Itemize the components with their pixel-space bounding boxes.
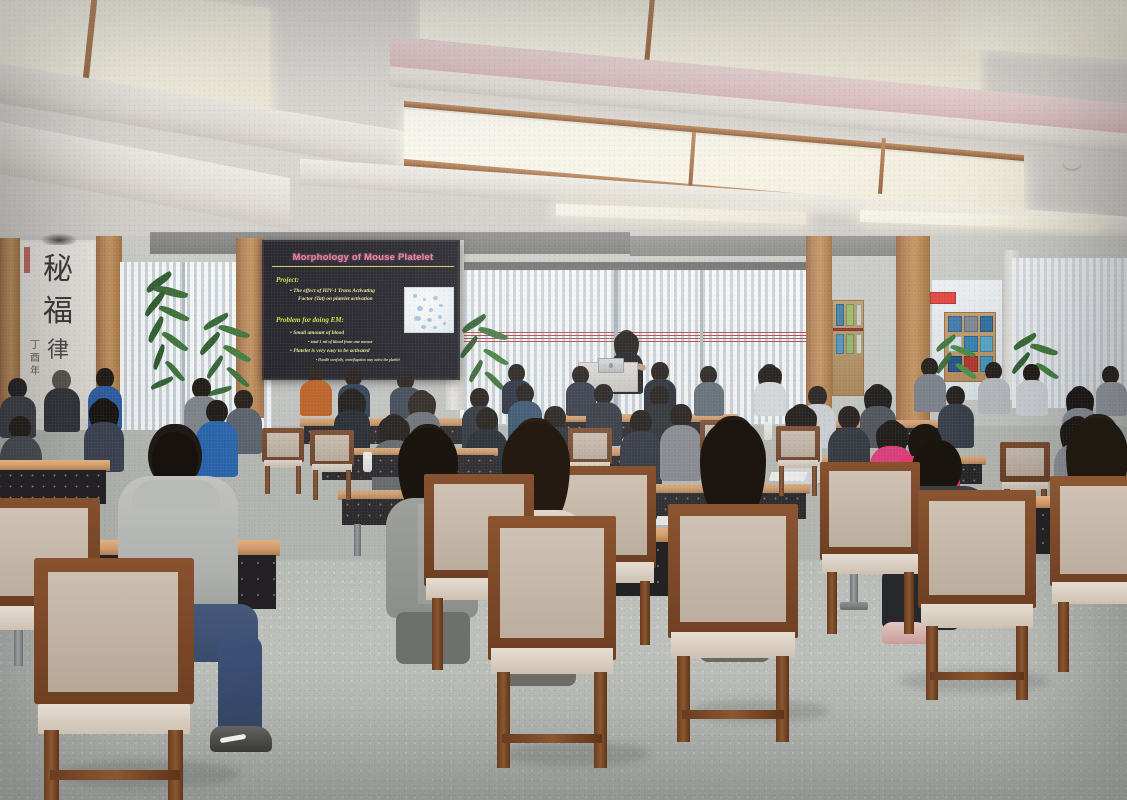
water-bottle: [363, 452, 372, 472]
slide-title: Morphology of Mouse Platelet: [273, 252, 453, 263]
wooden-chair[interactable]: [918, 490, 1036, 700]
chair-seat: [671, 632, 795, 658]
wooden-chair[interactable]: [668, 504, 798, 742]
slide-bullet: Factor (Tat) on platelet activation: [298, 296, 373, 303]
wooden-chair[interactable]: [310, 430, 354, 500]
shelf-book: [846, 334, 854, 354]
wooden-chair[interactable]: [1050, 476, 1127, 672]
audience-member: [300, 364, 332, 412]
slide-bullet: • The effect of HIV-1 Trans Activating: [290, 288, 375, 295]
journal-cover: [964, 316, 978, 332]
chair-seat: [491, 648, 613, 674]
slide-bullet: • Small amount of blood: [290, 330, 344, 337]
wooden-chair[interactable]: [34, 558, 194, 800]
shelf-book: [836, 334, 844, 354]
apple-logo-icon: [609, 363, 613, 368]
projection-screen: Morphology of Mouse Platelet Project: • …: [262, 240, 460, 380]
platelet-micrograph: [404, 287, 454, 333]
seminar-room-photo: 秘 福 律 丁酉年: [0, 0, 1127, 800]
chair-seat: [921, 604, 1033, 628]
chair-backrest-pad: [929, 501, 1025, 595]
chair-backrest-pad: [680, 516, 786, 622]
chair-backrest-pad: [48, 572, 178, 692]
shelf-book: [856, 304, 862, 326]
journal-cover: [980, 316, 993, 332]
audience-member: [44, 370, 80, 428]
table-leg: [354, 524, 361, 556]
audience-member: [1096, 366, 1127, 412]
wall-upper-dark-band-right: [630, 236, 930, 256]
wooden-chair[interactable]: [488, 516, 616, 768]
slide-heading-project: Project:: [276, 276, 299, 284]
slide-sub-bullet: • total 1 ml of blood from one mouse: [308, 339, 373, 344]
window-header-dark: [460, 262, 810, 270]
shelf-book: [856, 334, 862, 354]
calligraphy-top-ornament: [40, 233, 78, 245]
smoke-detector-icon: [1064, 160, 1080, 169]
shelf-shelf-edge: [833, 328, 863, 331]
slide-title-rule: [272, 266, 454, 267]
wall-sign: [930, 292, 956, 304]
audience-member: [1016, 364, 1048, 412]
audience-member: [978, 362, 1010, 410]
wooden-chair[interactable]: [820, 462, 920, 634]
shelf-book: [846, 304, 854, 326]
journal-cover: [948, 316, 962, 332]
chair-backrest-pad: [500, 528, 604, 638]
slide-bullet: • Platelet is very easy to be activated: [290, 348, 370, 355]
slide-sub-bullet: • Handle carefully, centrifugation may a…: [316, 358, 400, 362]
shelf-book: [836, 304, 844, 326]
slide-heading-problem: Problem for doing EM:: [276, 316, 344, 324]
wooden-chair[interactable]: [262, 428, 304, 494]
